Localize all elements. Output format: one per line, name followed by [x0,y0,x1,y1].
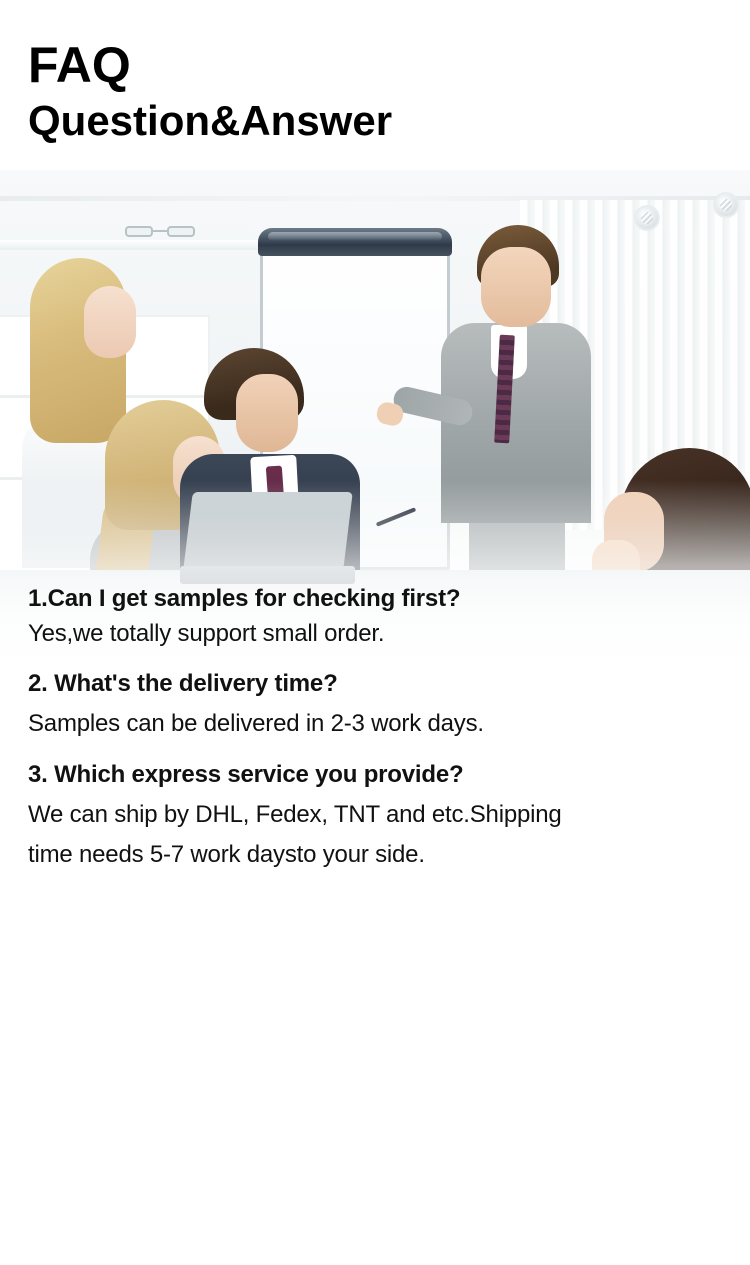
faq-page: FAQ Question&Answer [0,0,750,1265]
ceiling-vent-icon [634,205,660,231]
faq-answer-1: Yes,we totally support small order. [28,621,384,646]
faq-answer-3-line-2: time needs 5-7 work daysto your side. [28,842,425,867]
eyeglasses-icon [125,226,195,238]
faq-question-3: 3. Which express service you provide? [28,762,463,787]
faq-answer-3-line-1: We can ship by DHL, Fedex, TNT and etc.S… [28,802,562,827]
page-header: FAQ Question&Answer [0,0,750,170]
ceiling-vent-icon [713,192,739,218]
trust-logos-section: PayPal WESTERN UNION VISA ESCROW ➤ Maste… [0,960,750,1220]
flipchart-header-bar [258,228,452,256]
faq-question-1: 1.Can I get samples for checking first? [28,586,460,611]
faq-question-2: 2. What's the delivery time? [28,671,338,696]
faq-answer-2: Samples can be delivered in 2-3 work day… [28,711,484,736]
page-title: FAQ [28,40,131,90]
page-subtitle: Question&Answer [28,100,392,142]
